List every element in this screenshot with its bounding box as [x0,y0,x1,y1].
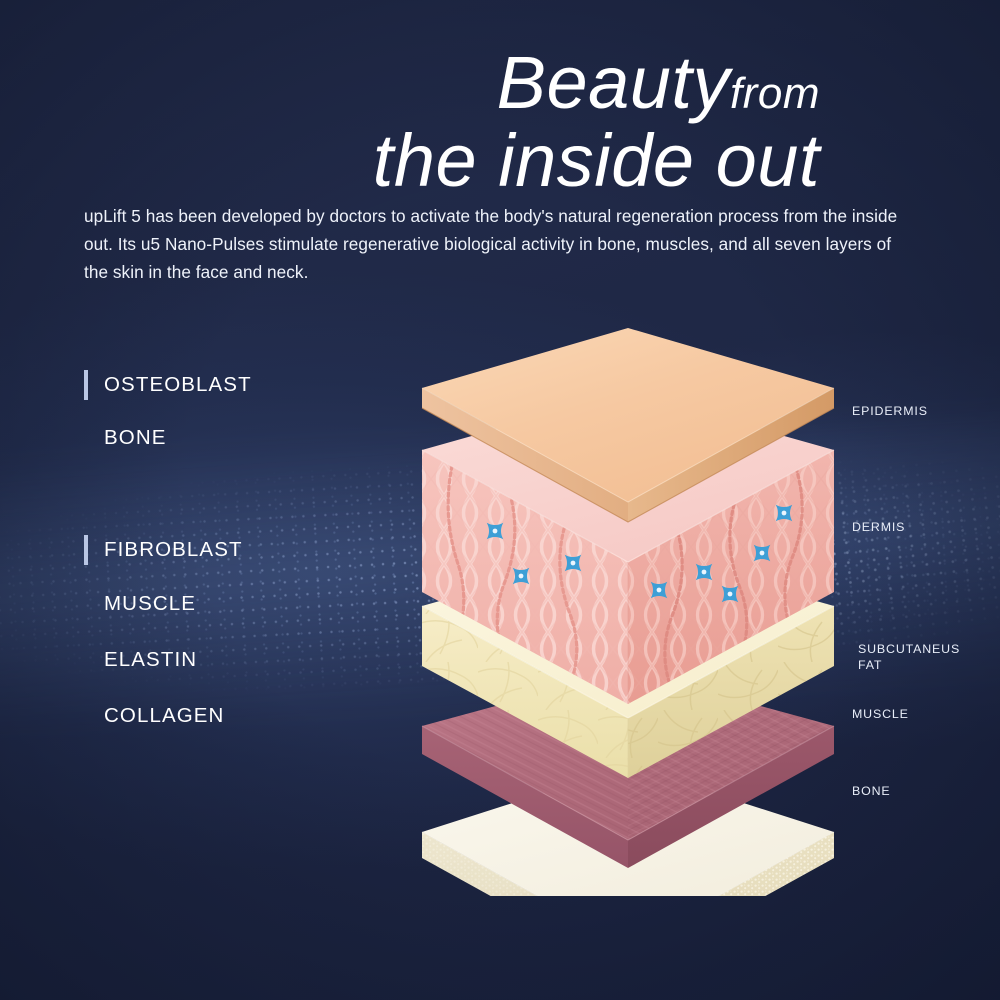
left-label-text: ELASTIN [104,648,197,672]
left-label-text: FIBROBLAST [104,538,243,562]
left-label-collagen: COLLAGEN [104,704,224,728]
left-label-text: MUSCLE [104,592,196,616]
right-label-subcutaneus-fat: SUBCUTANEUS FAT [858,642,970,674]
right-label-epidermis: EPIDERMIS [852,404,928,420]
page-title: Beautyfrom the inside out [0,46,820,198]
left-label-elastin: ELASTIN [104,648,197,672]
left-label-fibroblast: FIBROBLAST [84,535,243,565]
title-word-beauty: Beauty [497,41,730,124]
title-line-2: the inside out [0,124,820,198]
skin-layers-diagram [418,326,838,896]
left-label-osteoblast: OSTEOBLAST [84,370,252,400]
intro-paragraph: upLift 5 has been developed by doctors t… [84,203,902,287]
left-label-bone: BONE [104,426,167,450]
left-label-text: BONE [104,426,167,450]
left-label-text: COLLAGEN [104,704,224,728]
accent-bar-icon [84,535,88,565]
accent-bar-icon [84,370,88,400]
left-label-muscle: MUSCLE [104,592,196,616]
right-label-muscle: MUSCLE [852,707,909,723]
right-label-bone: BONE [852,784,891,800]
title-word-from: from [730,69,820,118]
infographic-canvas: Beautyfrom the inside out upLift 5 has b… [0,0,1000,1000]
right-label-dermis: DERMIS [852,520,905,536]
title-phrase-inside-out: the inside out [373,119,820,202]
left-label-text: OSTEOBLAST [104,373,252,397]
title-line-1: Beautyfrom [0,46,820,120]
